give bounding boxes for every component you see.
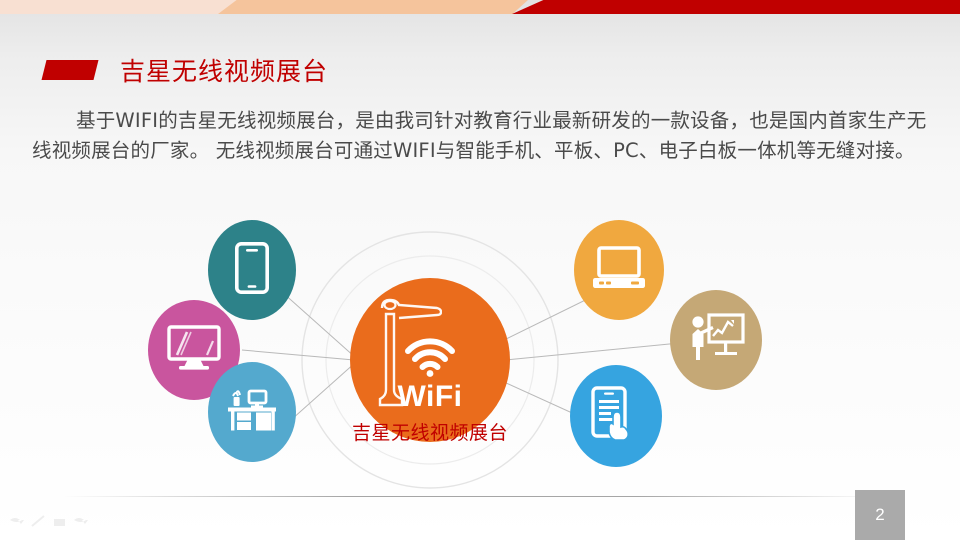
footer-watermark [6, 512, 126, 532]
smartphone-icon [235, 242, 269, 299]
top-decoration-bar [0, 0, 960, 14]
monitor-icon [167, 325, 221, 376]
page-number-badge: 2 [855, 490, 905, 540]
topbar-band-light [0, 0, 240, 14]
node-smartphone[interactable] [208, 220, 296, 320]
topbar-band-red [512, 0, 960, 14]
node-laptop[interactable] [574, 220, 664, 320]
slide-title-row: 吉星无线视频展台 [44, 52, 328, 88]
tablet-touch-icon [591, 386, 641, 447]
footer-divider [62, 496, 882, 497]
title-bullet-marker [42, 60, 99, 80]
page-title: 吉星无线视频展台 [120, 52, 328, 88]
desk-computer-icon [225, 386, 279, 439]
slide-canvas: 吉星无线视频展台 基于WIFI的吉星无线视频展台，是由我司针对教育行业最新研发的… [0, 0, 960, 540]
connectivity-diagram: WiFi [170, 200, 810, 500]
node-desk-computer[interactable] [208, 362, 296, 462]
topbar-band-mid [218, 0, 528, 14]
node-tablet-touch[interactable] [570, 365, 662, 467]
document-camera-icon [372, 292, 442, 421]
laptop-icon [591, 245, 647, 296]
presenter-board-icon [687, 312, 745, 369]
center-caption: 吉星无线视频展台 [320, 418, 540, 445]
node-presenter[interactable] [670, 290, 762, 390]
body-paragraph: 基于WIFI的吉星无线视频展台，是由我司针对教育行业最新研发的一款设备，也是国内… [32, 106, 932, 166]
